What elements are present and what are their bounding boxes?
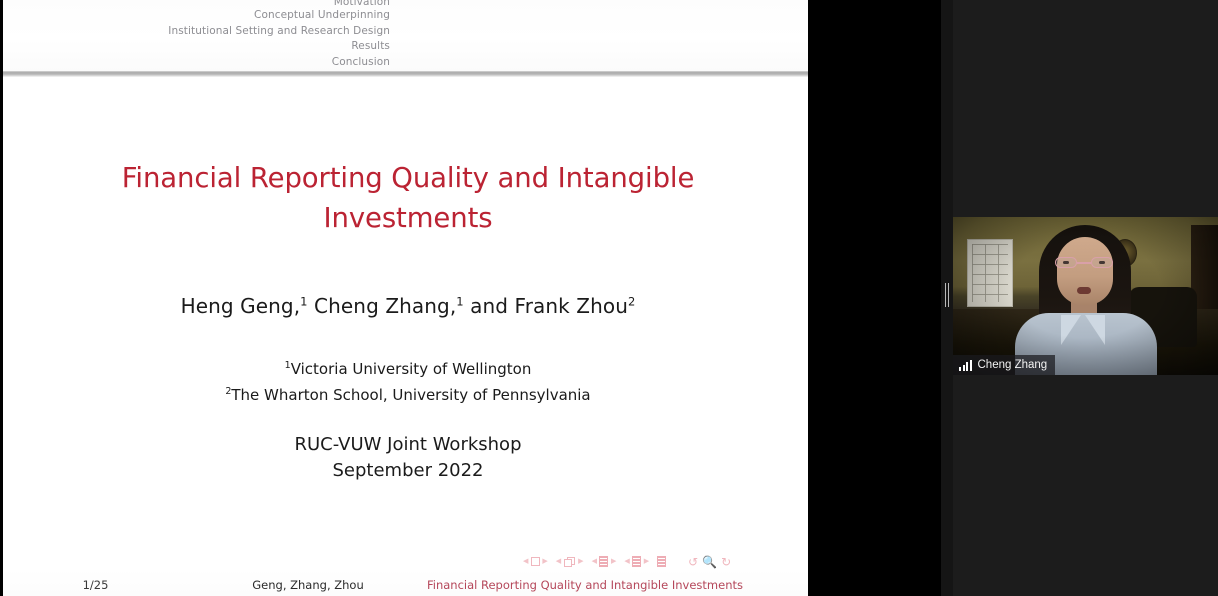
footer-authors: Geng, Zhang, Zhou [193,578,423,592]
video-vignette [953,217,1218,375]
nav-outline-item-conceptual-underpinning[interactable]: Conceptual Underpinning [254,9,390,21]
shared-screen-region[interactable]: Motivation Conceptual Underpinning Insti… [0,0,808,596]
participant-name-label: Cheng Zhang [978,359,1048,371]
presentation-slide[interactable]: Motivation Conceptual Underpinning Insti… [3,0,808,596]
slide-header: Motivation Conceptual Underpinning Insti… [3,0,808,72]
subsection-doc-icon[interactable] [599,556,608,567]
subsection-nav-group[interactable]: ◀ ▶ [592,556,617,567]
splitter-grip-icon[interactable] [945,283,950,307]
nav-outline-item-institutional-setting[interactable]: Institutional Setting and Research Desig… [168,25,390,37]
search-icon[interactable]: 🔍 [702,555,717,569]
next-slide-icon[interactable]: ▶ [542,558,547,565]
affiliation-two-text: The Wharton School, University of Pennsy… [231,386,590,404]
next-section-icon[interactable]: ▶ [644,558,649,565]
slide-authors: Heng Geng,1 Cheng Zhang,1 and Frank Zhou… [43,294,773,318]
participant-name-bar: Cheng Zhang [953,355,1055,375]
affiliation-line-2: 2The Wharton School, University of Penns… [43,381,773,407]
frame-stack-icon[interactable] [564,557,576,567]
panel-splitter-handle[interactable] [941,0,953,596]
nav-outline-item-conclusion[interactable]: Conclusion [332,56,390,68]
next-frame-icon[interactable]: ▶ [578,558,583,565]
slide-body: Financial Reporting Quality and Intangib… [3,80,808,570]
prev-section-icon[interactable]: ◀ [624,558,629,565]
meeting-screen: Motivation Conceptual Underpinning Insti… [0,0,1218,596]
section-doc-icon[interactable] [632,556,641,567]
beamer-navigation-symbols[interactable]: ◀ ▶ ◀ ▶ ◀ ▶ ◀ ▶ [523,553,801,570]
author-one: Heng Geng, [181,294,301,318]
prev-slide-icon[interactable]: ◀ [523,558,528,565]
prev-frame-icon[interactable]: ◀ [556,558,561,565]
footer-title: Financial Reporting Quality and Intangib… [427,578,787,592]
affiliation-line-1: 1Victoria University of Wellington [43,355,773,381]
letterbox-gap [808,0,941,596]
back-icon[interactable]: ↺ [688,555,698,569]
next-subsection-icon[interactable]: ▶ [611,558,616,565]
author-three: and Frank Zhou [464,294,628,318]
footer-page-number: 1/25 [3,578,188,592]
slide-nav-group[interactable]: ◀ ▶ [523,557,548,566]
slide-affiliations: 1Victoria University of Wellington 2The … [43,355,773,406]
section-nav-group[interactable]: ◀ ▶ [624,556,649,567]
document-nav-group[interactable] [657,556,666,567]
audio-signal-bars-icon [959,360,972,371]
slide-venue-block: RUC-VUW Joint Workshop September 2022 [43,432,773,484]
forward-icon[interactable]: ↻ [721,555,731,569]
participant-video-tile[interactable]: Cheng Zhang [953,217,1218,375]
venue-name: RUC-VUW Joint Workshop [43,432,773,458]
slide-title: Financial Reporting Quality and Intangib… [63,158,753,238]
document-icon[interactable] [657,556,666,567]
frame-nav-group[interactable]: ◀ ▶ [556,557,584,567]
author-one-footnote-marker: 1 [300,294,307,308]
affiliation-one-text: Victoria University of Wellington [291,360,532,378]
venue-date: September 2022 [43,458,773,484]
prev-subsection-icon[interactable]: ◀ [592,558,597,565]
history-nav-group[interactable]: ↺ 🔍 ↻ [688,555,731,569]
nav-outline-item-motivation[interactable]: Motivation [334,0,390,8]
nav-outline-item-results[interactable]: Results [351,40,390,52]
author-three-footnote-marker: 2 [628,294,635,308]
author-two: Cheng Zhang, [308,294,457,318]
participants-panel: Cheng Zhang [953,0,1218,596]
author-two-footnote-marker: 1 [456,294,463,308]
slide-square-icon[interactable] [531,557,540,566]
